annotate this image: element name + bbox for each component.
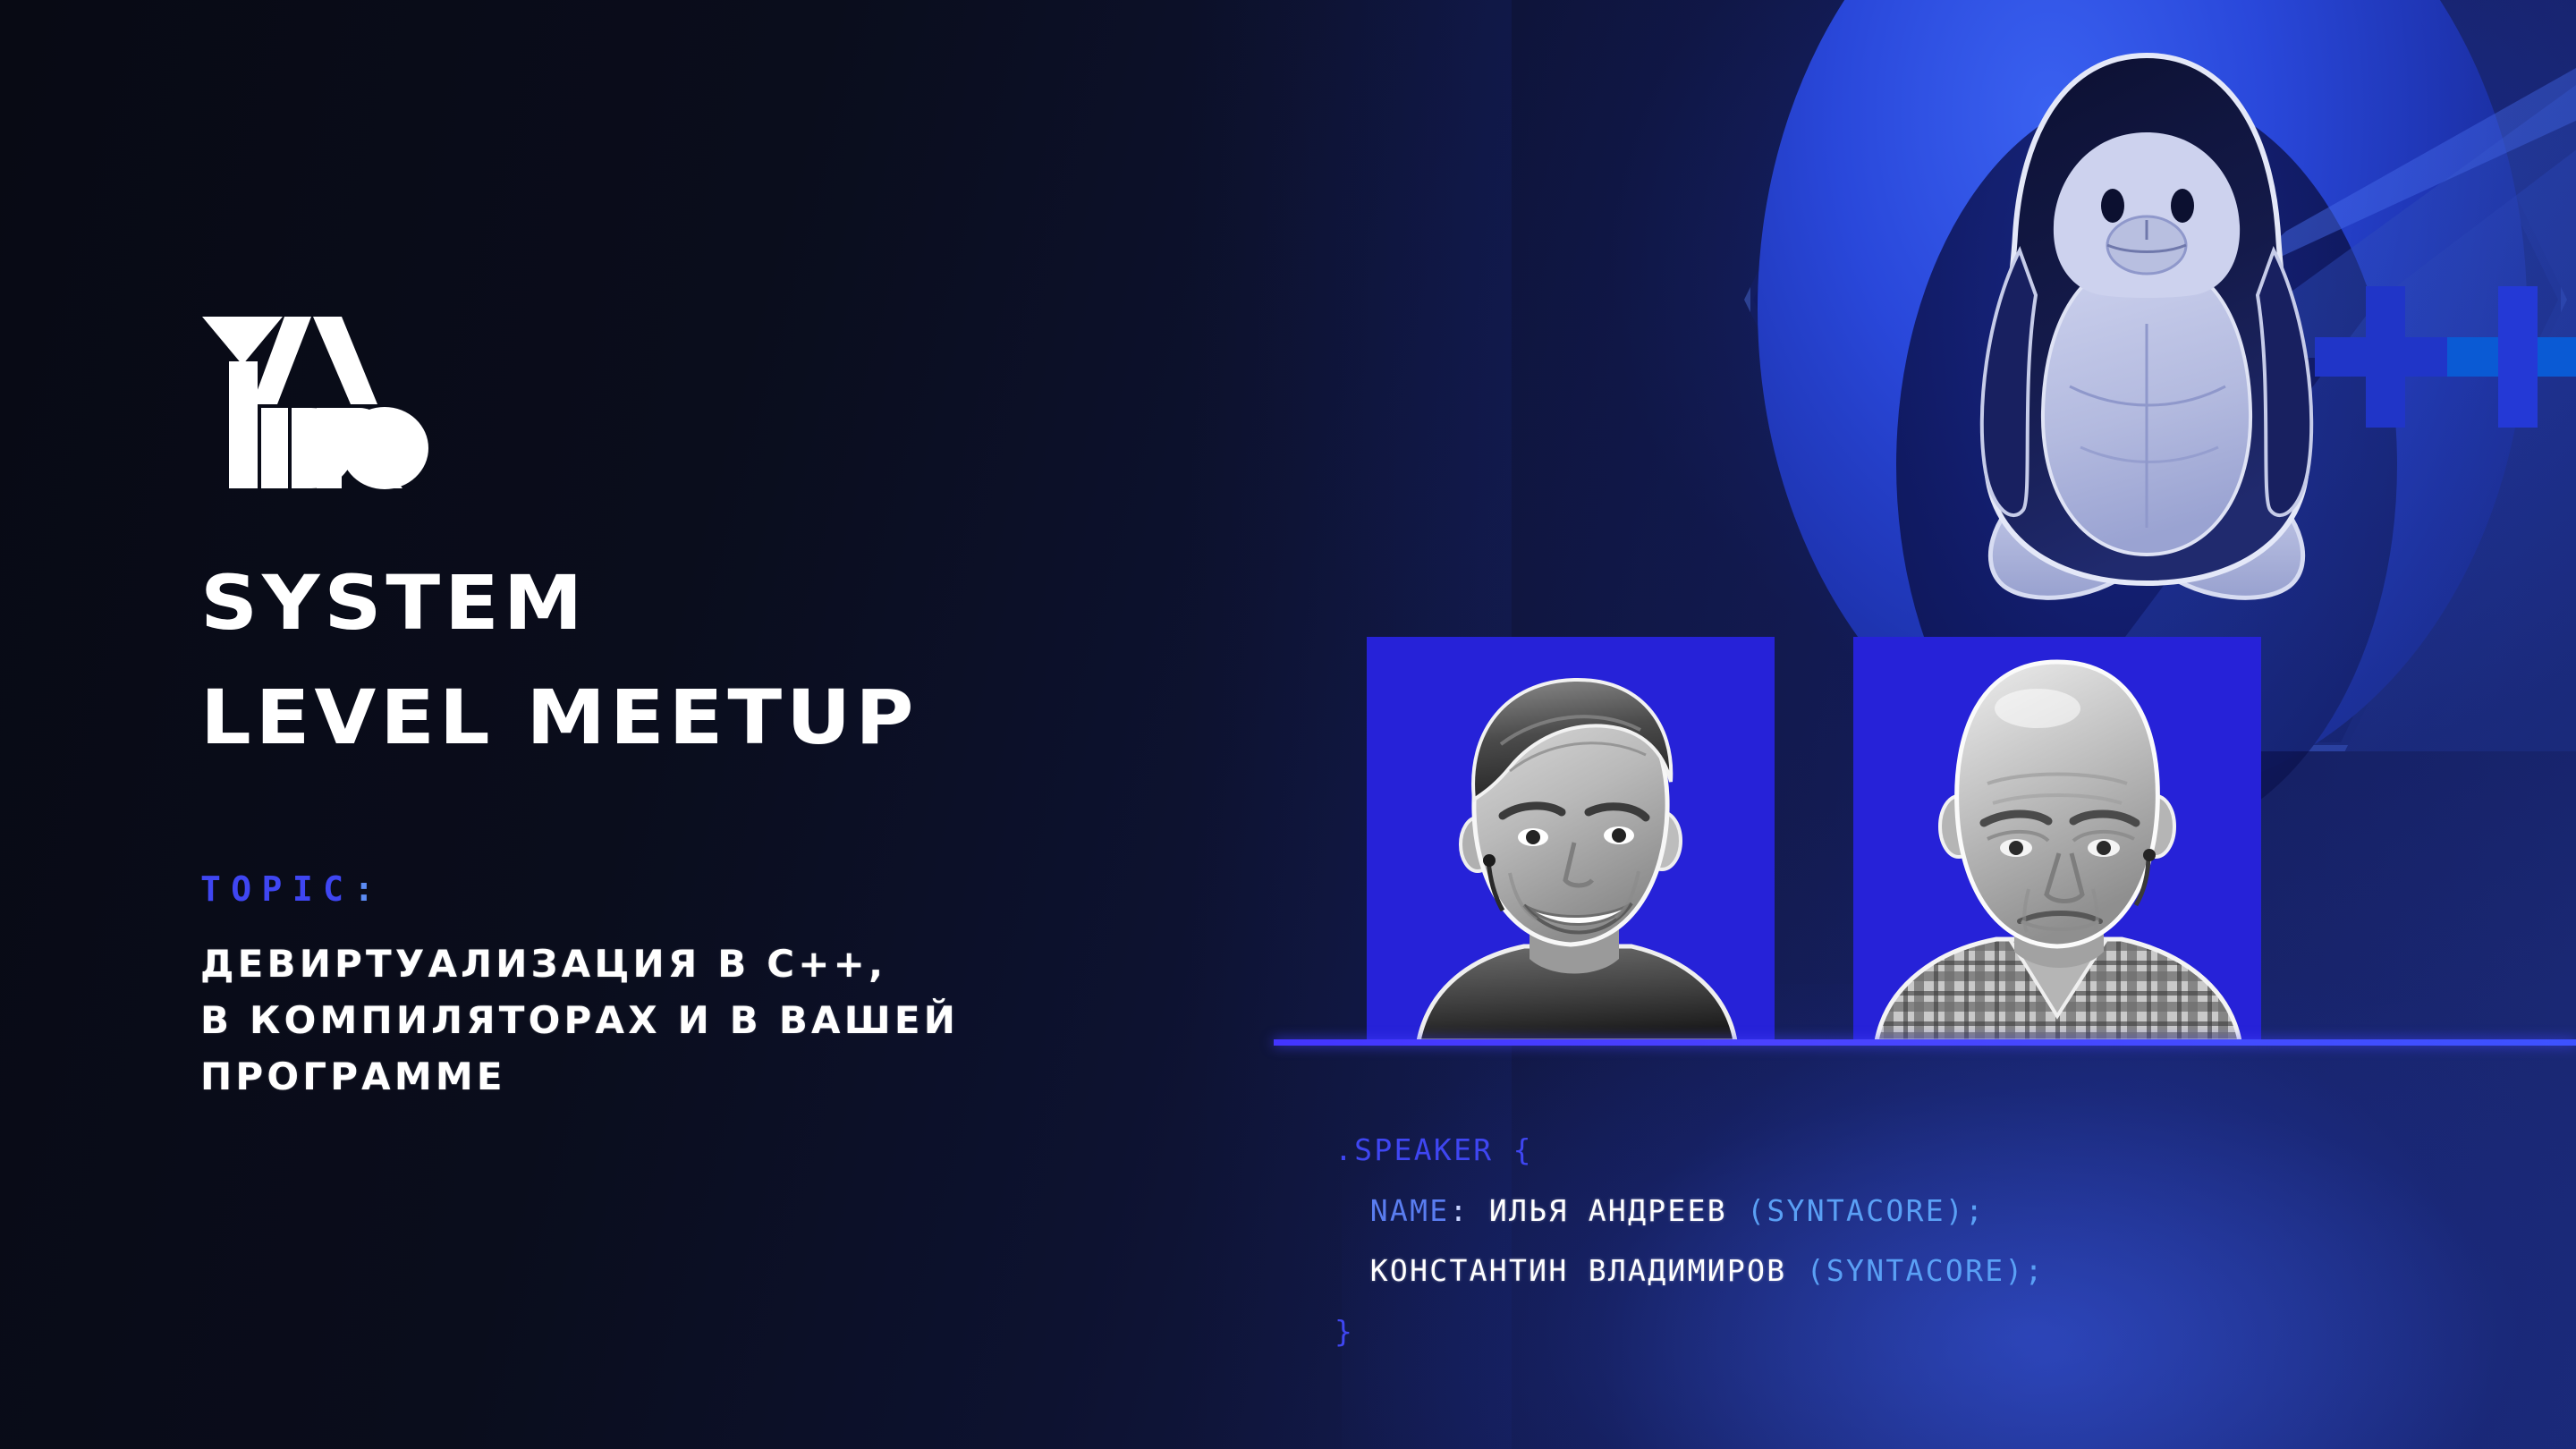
code-key-name: NAME <box>1370 1193 1450 1228</box>
topic-label: TOPIC: <box>200 869 385 909</box>
speaker-photo-2 <box>1853 637 2261 1041</box>
linux-tux-penguin-icon <box>1869 27 2424 608</box>
plus-sign-icon-2 <box>2447 286 2576 428</box>
section-divider <box>1274 1039 2576 1046</box>
code-brace-open: { <box>1513 1132 1533 1167</box>
speaker-name-2: КОНСТАНТИН ВЛАДИМИРОВ <box>1370 1253 1787 1288</box>
speaker-name-1: ИЛЬЯ АНДРЕЕВ <box>1489 1193 1727 1228</box>
speaker-code-block: .SPEAKER { NAME: ИЛЬЯ АНДРЕЕВ (SYNTACORE… <box>1335 1120 2045 1362</box>
yadro-logo <box>199 311 433 499</box>
page-title-line-1: SYSTEM <box>200 565 587 640</box>
code-key-punct: : <box>1449 1193 1469 1228</box>
speaker-photo-1 <box>1367 637 1775 1041</box>
speaker-org-1: (SYNTACORE); <box>1747 1193 1985 1228</box>
meetup-poster: SYSTEM LEVEL MEETUP TOPIC: ДЕВИРТУАЛИЗАЦ… <box>0 0 2576 1449</box>
code-brace-close: } <box>1335 1314 1354 1349</box>
code-selector: .SPEAKER <box>1335 1132 1493 1167</box>
speaker-org-2: (SYNTACORE); <box>1807 1253 2045 1288</box>
page-title-line-2: LEVEL MEETUP <box>200 680 918 755</box>
topic-text: ДЕВИРТУАЛИЗАЦИЯ В С++, В КОМПИЛЯТОРАХ И … <box>200 936 959 1105</box>
topic-label-text: TOPIC <box>200 869 353 909</box>
topic-label-colon: : <box>353 869 384 909</box>
